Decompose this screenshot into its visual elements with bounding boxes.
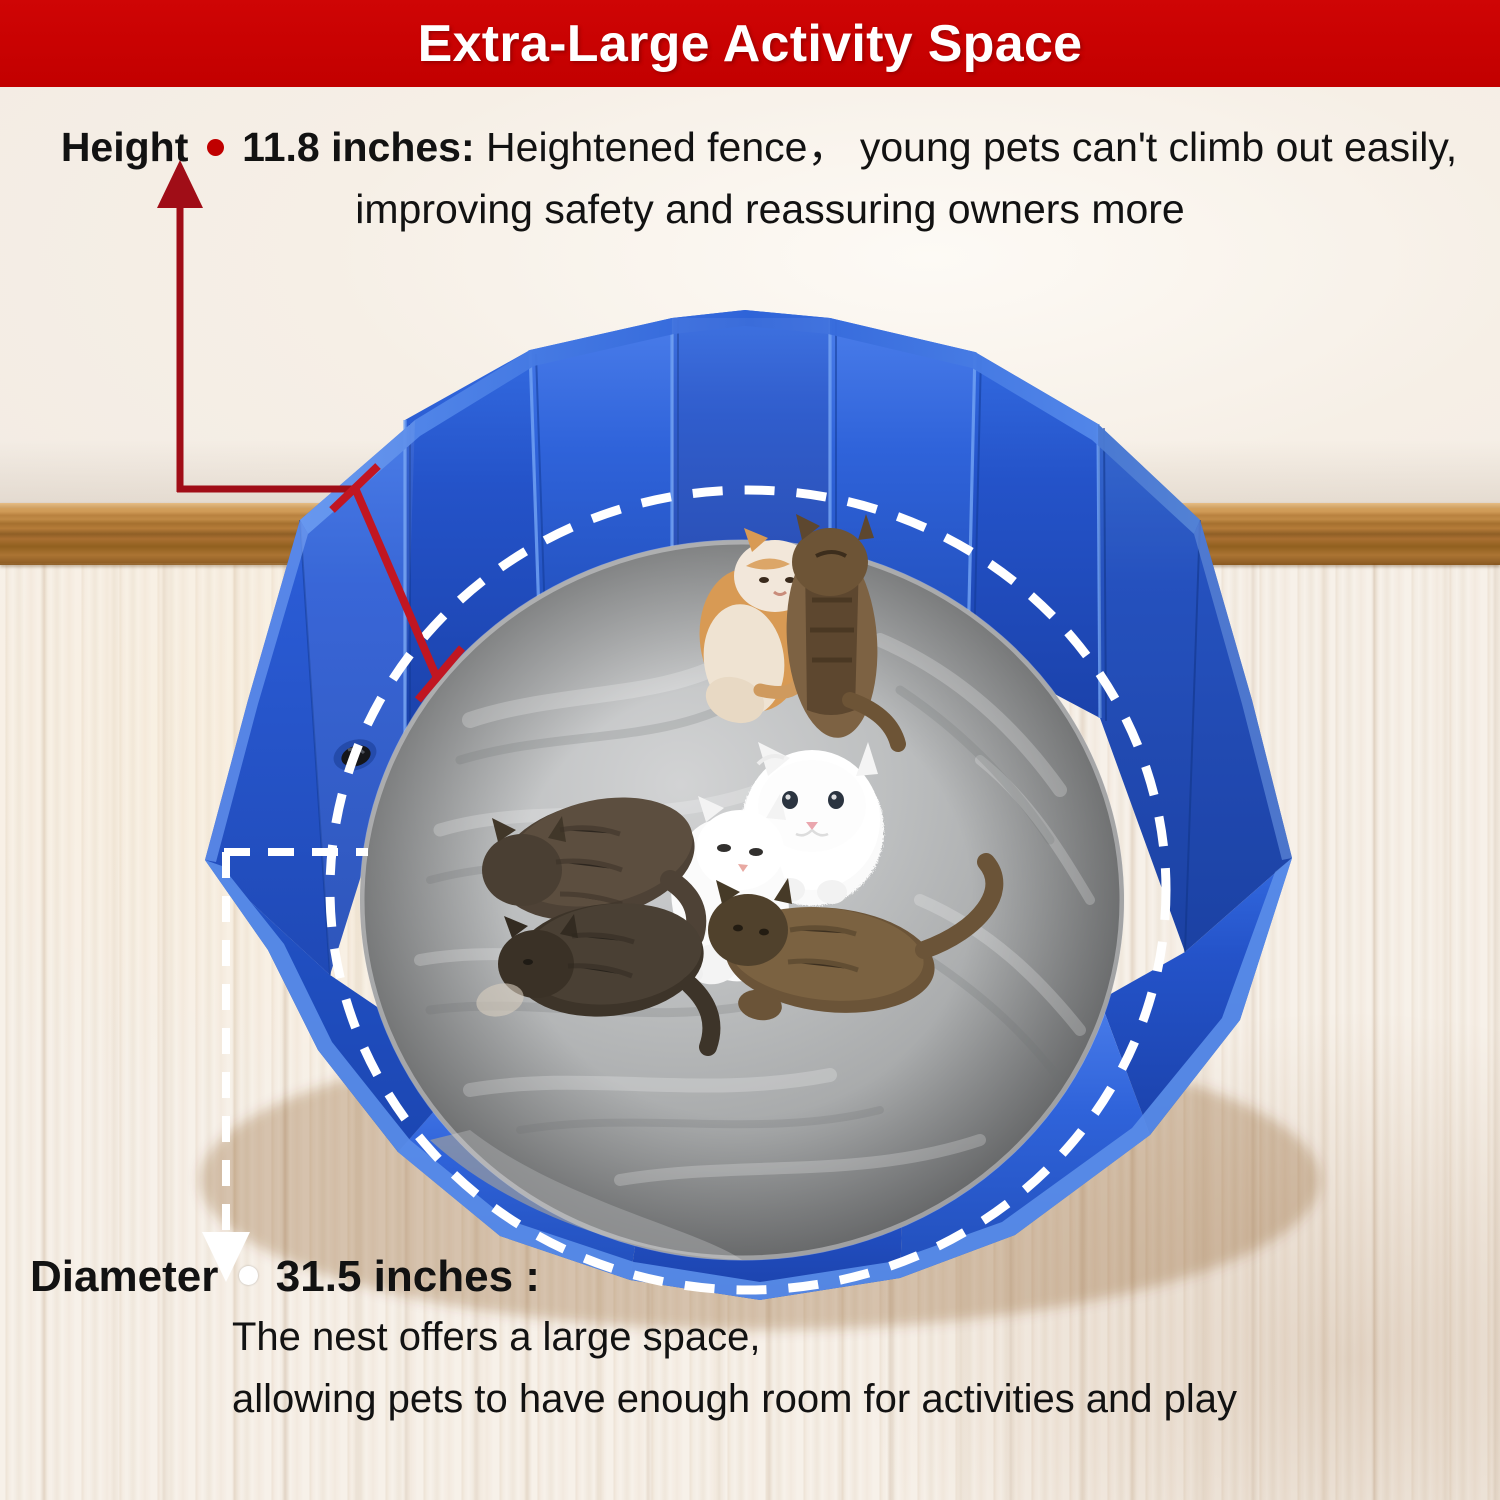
red-dot-bullet-icon <box>207 139 224 156</box>
diameter-value: 31.5 inches : <box>276 1252 540 1301</box>
diameter-desc-line2: allowing pets to have enough room for ac… <box>0 1368 1500 1430</box>
diameter-measure-annotation <box>202 852 368 1282</box>
height-measure-annotation <box>157 160 462 700</box>
diameter-desc-line1: The nest offers a large space, <box>0 1306 1500 1368</box>
height-callout-text: Height 11.8 inches: Heightened fence， yo… <box>0 120 1500 238</box>
height-desc-line1: Heightened fence， young pets can't climb… <box>486 124 1457 170</box>
header-banner: Extra-Large Activity Space <box>0 0 1500 87</box>
diameter-label: Diameter <box>30 1252 218 1301</box>
white-dot-bullet-icon <box>239 1266 258 1285</box>
height-label: Height <box>61 124 189 170</box>
height-headline: Height 11.8 inches: Heightened fence， yo… <box>0 120 1500 174</box>
diameter-callout-text: Diameter 31.5 inches : The nest offers a… <box>0 1248 1500 1430</box>
diameter-headline: Diameter 31.5 inches : <box>0 1248 1500 1306</box>
page-title: Extra-Large Activity Space <box>418 14 1083 74</box>
height-value: 11.8 inches: <box>242 124 474 170</box>
height-desc-line2: improving safety and reassuring owners m… <box>0 180 1500 238</box>
infographic-canvas: Extra-Large Activity Space Height 11.8 i… <box>0 0 1500 1500</box>
